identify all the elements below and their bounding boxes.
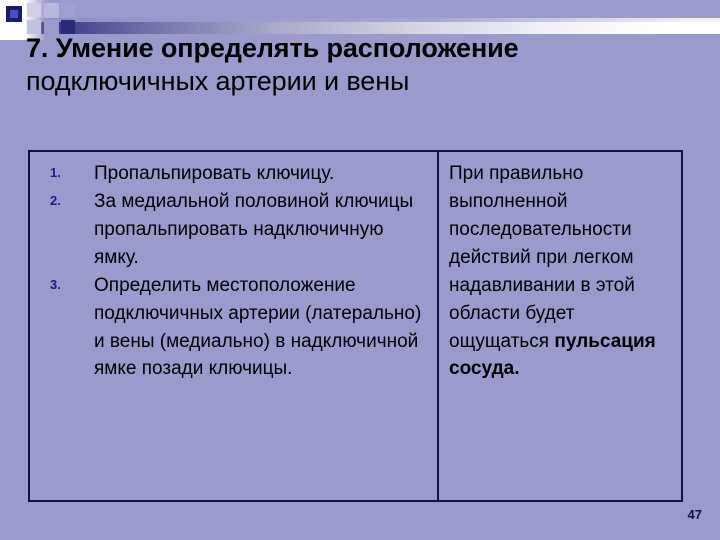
page-title: 7. Умение определять расположение подклю…	[26, 32, 694, 98]
page-title-line-2: подключичных артерии и вены	[26, 65, 694, 98]
decorative-square-light-1	[27, 3, 41, 17]
page-number: 47	[688, 507, 702, 522]
table-cell-steps: Пропальпировать ключицу. За медиальной п…	[30, 152, 439, 500]
decorative-square-dark-inner	[10, 10, 18, 18]
decorative-square-light-4	[61, 3, 75, 18]
page-title-line-1: 7. Умение определять расположение	[26, 32, 694, 65]
result-text-normal: При правильно выполненной последовательн…	[449, 163, 635, 352]
list-item: Определить местоположение подключичных а…	[38, 272, 431, 384]
decorative-square-light-2	[44, 3, 59, 18]
steps-list: Пропальпировать ключицу. За медиальной п…	[38, 160, 431, 383]
table-cell-result: При правильно выполненной последовательн…	[439, 152, 681, 500]
content-table: Пропальпировать ключицу. За медиальной п…	[28, 150, 683, 502]
result-paragraph: При правильно выполненной последовательн…	[449, 160, 675, 383]
list-item: За медиальной половиной ключицы пропальп…	[38, 188, 431, 272]
list-item: Пропальпировать ключицу.	[38, 160, 431, 188]
slide-canvas: 7. Умение определять расположение подклю…	[0, 0, 720, 540]
